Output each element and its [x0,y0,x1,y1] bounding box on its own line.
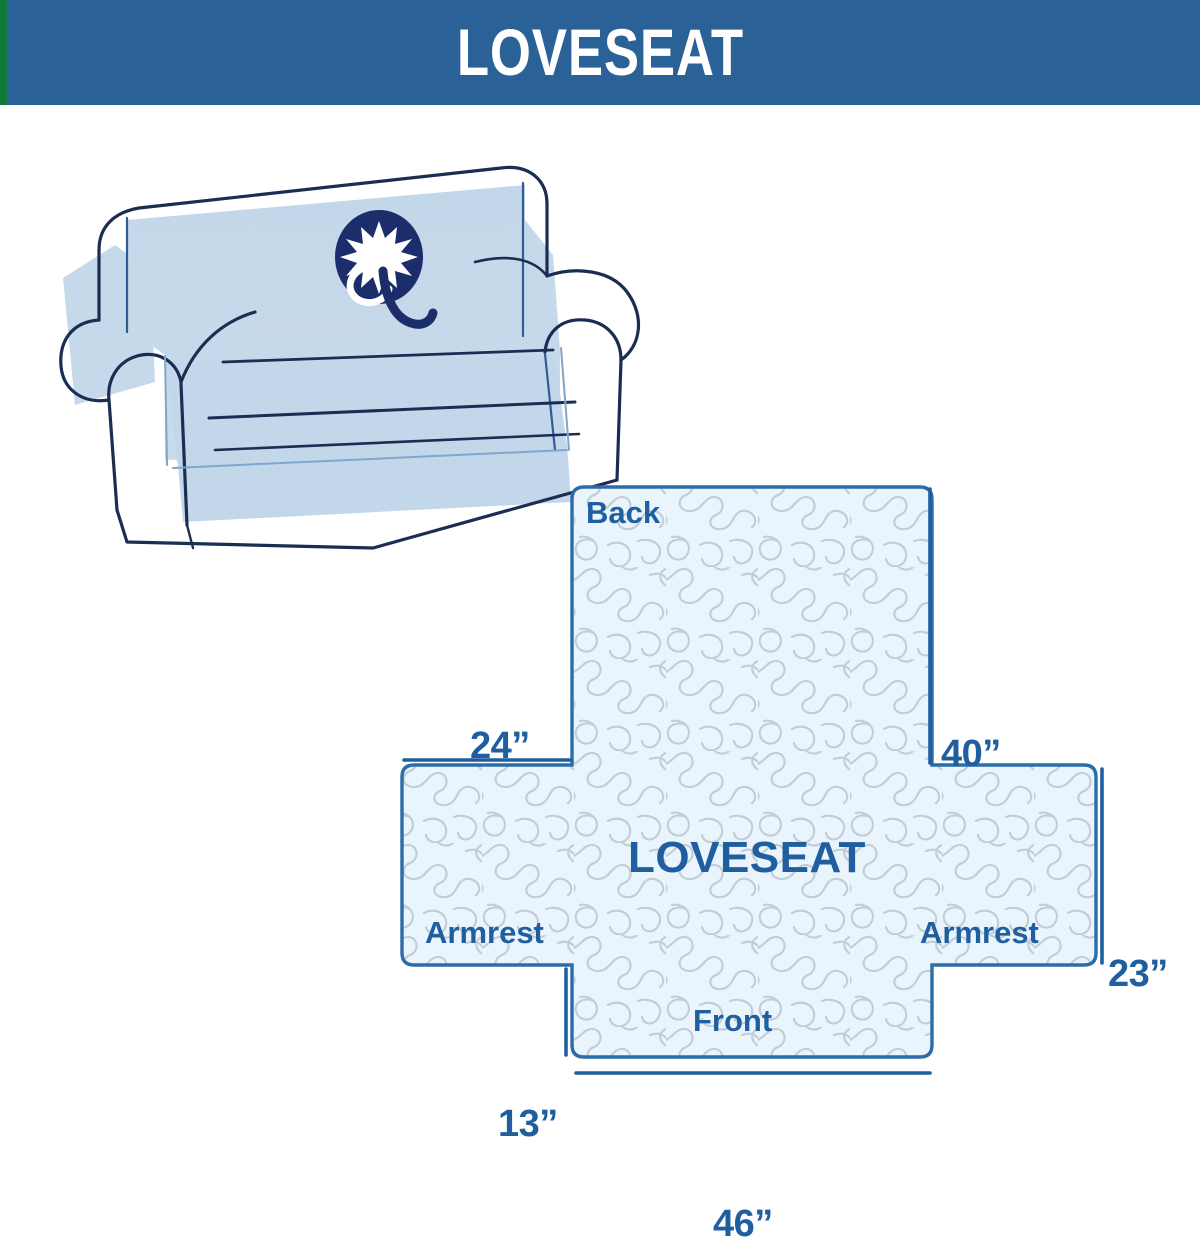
sofa-left-arm-panel [63,245,155,405]
header-banner: LOVESEAT [0,0,1200,105]
dimension-label-front-width: 46” [713,1203,773,1246]
cover-shape [402,487,1096,1057]
header-accent-stripe [0,0,7,105]
sofa-left-arm-front [109,400,117,510]
cover-layout-diagram: Back LOVESEAT Armrest Armrest Front 40” … [390,475,1180,1135]
sofa-right-arm-front [617,360,621,480]
content-area: Back LOVESEAT Armrest Armrest Front 40” … [0,105,1200,1200]
sofa-right-arm-outline [547,271,638,360]
page-title: LOVESEAT [456,0,743,105]
